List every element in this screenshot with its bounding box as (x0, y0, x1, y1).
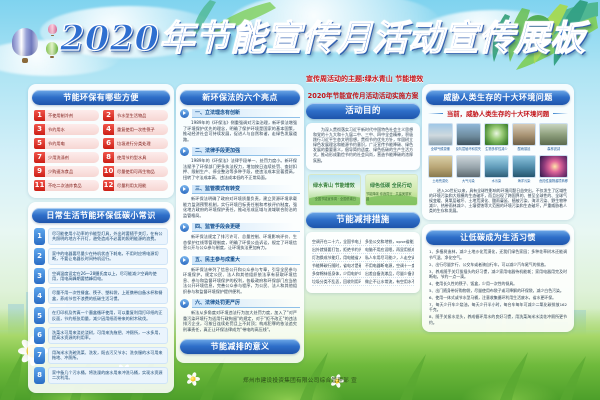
heading-convenience: 节能环保有哪些方便 (32, 90, 170, 105)
heading-low-carbon-habits: 让低碳成为生活习惯 (426, 230, 570, 245)
chip-label: 尽量利用太阳能 (114, 180, 168, 191)
law-subsection-head: 二、法律手段更加强 (180, 147, 300, 156)
law-subsection-title: 四、监管手段会更硬 (192, 223, 300, 232)
chip-number: 4 (103, 124, 114, 135)
purpose-paper: 为深入贯彻落实习近平新时代中国特色社会主义思想和党的十九大和十九届二中、三中、四… (306, 123, 420, 170)
panel-low-carbon-habits: 让低碳成为生活习惯 1、多植树造林，减少土地沙化荒漠化，还我们绿色家园；多种花草… (422, 224, 574, 331)
issue-photo (512, 155, 537, 178)
habit-item: 4、使用长久性的筷子、饭盒，少用一次性的餐具。 (426, 281, 570, 288)
convenience-chip: 10尽量使用可再生物品 (103, 166, 168, 177)
issue-photo (539, 155, 568, 178)
measures-slogan-list: 空调开在二十六，全国节电上亿度；多坐公交和地铁，ярче省能源又便捷；出外就餐要… (310, 236, 416, 288)
law-subsection-head: 一、立法理念有创新 (180, 109, 300, 118)
poster-image-row: 绿水青山 节能增效全国节能宣传周 · 全国低碳日绿色低碳 全民行动节能降碳 你我… (308, 174, 418, 206)
chip-number: 2 (103, 110, 114, 121)
activity-theme: 宣传周活动的主题:绿水青山 节能增效 (306, 74, 420, 84)
law-subsection: 六、法律处罚更严厉新法从多角度对环境违法行为加大处罚力度，加入了"对严重污染环境… (180, 299, 300, 334)
heading-ten-issues: 威胁人类生存的十大环境问题 (426, 90, 570, 105)
law-subsection: 一、立法理念有创新1989年的《环保法》侧重强调对污染治理，新环保法增强了环境保… (180, 109, 300, 144)
panel-ten-issues: 威胁人类生存的十大环境问题 当前，威胁人类生存的十大环境问题 全球气候变暖臭氧层… (422, 84, 574, 220)
law-subsection-body: 新环保法单列了信息公开和公众参与专章，引导全民参与环境保护。规定公民、法人和其他… (180, 267, 300, 297)
issue-caption: 水污染 (484, 179, 509, 184)
measure-slogan: 多坐公交和地铁，ярче省能源又便捷； (365, 238, 414, 245)
tip-number: 5 (34, 307, 45, 324)
issue-caption: 海洋污染 (512, 179, 537, 184)
habits-list: 1、多植树造林，减少土地沙化荒漠化，还我们绿色家园；多种花草树木还能调节气温、净… (426, 249, 570, 326)
habit-item: 2、出行尽量步行、公交车或者骑自行车，可以减少汽车尾气的排放。 (426, 262, 570, 269)
chip-label: 少用洗涤剂 (45, 152, 99, 163)
ribbon-rule-left (428, 113, 443, 114)
poster-subcaption: 节能降碳 你我同行 · 共建美丽家园 (366, 191, 413, 201)
issue-caption: 全球气候变暖 (428, 147, 453, 152)
law-subsection-head: 三、监管模式有转变 (180, 185, 300, 194)
habit-item: 7、每天少开车少烧油，每天少开半小时，每台车每年可减少二氧化碳排放162千克。 (426, 302, 570, 314)
convenience-chip-grid: 1不使用制冷剂2节水型生活物品3节约用水4重复使用一次性筷子5节约用电6垃圾进行… (32, 109, 170, 193)
daily-tip-item: 2家中的电器要尽量少在待机状态下耗电，不用时应将电源切断，不要让电器长时间待机运… (34, 248, 168, 265)
title-banner: 2020年节能宣传月活动宣传展板 (0, 8, 600, 70)
chip-label: 不使用制冷剂 (45, 110, 99, 121)
chip-number: 10 (103, 166, 114, 177)
arrow-icon (180, 109, 189, 118)
law-subsection: 四、监管手段会更硬新环保法规定了排污许可、总量控制、环境影响评价、生态保护红线等… (180, 223, 300, 253)
daily-tip-item: 5在打印机及传真一个墨盒循环使用，可以重复利用打印纸的正反面，节约纸张用量，减少… (34, 307, 168, 324)
chip-number: 1 (34, 110, 45, 121)
measure-slogan: 节能降碳行随时，省电才是硬道理； (312, 262, 361, 269)
issue-photo (484, 155, 509, 178)
chip-label: 垃圾进行分类处理 (114, 138, 168, 149)
measure-row: 出外就餐要打包，拒绝节约光盘行；电脑不用应设眠，再显用纸成本低； (312, 246, 414, 254)
measure-slogan: 出差自备洗漱品，尽量少备洗漱用品； (365, 270, 414, 277)
panel-convenience: 节能环保有哪些方便 1不使用制冷剂2节水型生活物品3节约用水4重复使用一次性筷子… (28, 84, 174, 198)
chip-number: 7 (34, 152, 45, 163)
tip-text: 洗菜水可用来浇花浇树，可用来洗拖把、冲厕所，一水多用，提高水资源的利用率。 (48, 327, 168, 344)
law-subsection-title: 五、民主参与成重大 (192, 256, 300, 265)
environment-issue: 土地荒漠化 (428, 155, 453, 184)
measure-row: 灯泡换成节能灯，用电能省入成多；私人车用尽可能少，人走空调空调关； (312, 254, 414, 262)
tip-text: 用淘米水洗碗洗菜、洗发，既去污又节水；洗衣服的水可用来拖地、冲厕所。 (48, 347, 168, 364)
habit-item: 3、养成随手关灯拔插头的好习惯，减少家用电器待机能耗；家用电器用完及时断电，节约… (426, 269, 570, 281)
habit-item: 6、使用一体式或节水型马桶，注意收集循环利用生活废水，省水更环保。 (426, 295, 570, 302)
daily-tips-list: 1尽可能使用小功率的节能型灯具，外出时要随手关灯，在有公共照明的地方不开灯，避免… (32, 227, 170, 388)
heading-new-law: 新环保法的六个亮点 (180, 90, 300, 105)
habit-item: 1、多植树造林，减少土地沙化荒漠化，还我们绿色家园；多种花草树木还能调节气温、净… (426, 249, 570, 261)
issue-caption: 危险性废物越境转移 (539, 179, 568, 184)
law-subsection-body: 1989年的《环保法》法律手段单一、处罚力度小。新环保法赋予了环保部门更多执法权… (180, 158, 300, 182)
chip-number: 12 (103, 180, 114, 191)
measure-slogan: 垃圾分类不乱丢，回收利用环保有； (312, 278, 361, 285)
environment-issue: 森林锐减 (539, 123, 568, 152)
convenience-chip: 2节水型生活物品 (103, 110, 168, 121)
heading-significance: 节能减排的意义 (180, 339, 300, 354)
environment-issue: 酸雨蔓延 (512, 123, 537, 152)
issue-photo (456, 123, 482, 146)
measure-row: 节能降碳行随时，省电才是硬道理；不用电器断电源，空调十一度更省； (312, 262, 414, 270)
issue-caption: 森林锐减 (539, 147, 568, 152)
tip-text: 在打印机及传真一个墨盒循环使用，可以重复利用打印纸的正反面，节约纸张用量，减少因… (48, 307, 168, 324)
measure-slogan: 多穿棉袜低身体，少用电炉少用电； (312, 270, 361, 277)
convenience-chip: 7少用洗涤剂 (34, 152, 99, 163)
habit-item: 8、随手关紧水龙头，养成循环用水的良好习惯，用洗菜淘米水浇花冲厕所更节约。 (426, 314, 570, 326)
law-subsection-body: 新法从多角度对环境违法行为加大处罚力度，加入了"对严重污染环境行为适用行政拘留"… (180, 310, 300, 334)
daily-tip-item: 3空调温度设定在26～28摄氏度以上，尽可能减少空调的使用，用电高峰期要错峰用电… (34, 268, 168, 285)
law-subsection-head: 六、法律处罚更严厉 (180, 299, 300, 308)
chip-number: 9 (34, 166, 45, 177)
daily-tip-item: 6洗菜水可用来浇花浇树，可用来洗拖把、冲厕所，一水多用，提高水资源的利用率。 (34, 327, 168, 344)
environment-issue: 大气污染 (456, 155, 482, 184)
daily-tip-item: 4尽量不用一次性餐盒、筷子、塑料袋，上班携带自备水杯和餐盒，养成节俭不浪费的低碳… (34, 287, 168, 304)
issue-caption: 生物多样性减少 (484, 147, 509, 152)
column-right: 威胁人类生存的十大环境问题 当前，威胁人类生存的十大环境问题 全球气候变暖臭氧层… (422, 84, 574, 336)
convenience-chip: 11不吃二次油炸食品 (34, 180, 99, 191)
ribbon-rule-right (553, 113, 568, 114)
tip-text: 家中的电器要尽量少在待机状态下耗电，不用时应将电源切断，不要让电器长时间待机运行… (48, 248, 168, 265)
issue-photo (456, 155, 482, 178)
scheme-title: 2020年节能宣传月活动活动实施方案 (306, 90, 420, 100)
measure-slogan: 不用电器断电源，空调十一度更省； (365, 262, 414, 269)
page-title: 2020年节能宣传月活动宣传展板 (60, 14, 560, 64)
chip-number: 5 (34, 138, 45, 149)
measure-slogan: 出外就餐要打包，拒绝节约光盘行； (312, 246, 361, 253)
poster-caption: 绿水青山 节能增效 (313, 182, 355, 189)
convenience-chip: 8使用节约型水具 (103, 152, 168, 163)
environment-issue: 生物多样性减少 (484, 123, 509, 152)
issue-photo (428, 155, 453, 178)
footer-credit: 郑州市建设投资集团有限公司综合管理部 宣 (0, 376, 600, 384)
environment-issue: 臭氧层破坏和损失 (456, 123, 482, 152)
law-subsection: 三、监管模式有转变新环保法明确了政府对环境质量负责，建立资源环境承载能力监测预警… (180, 185, 300, 220)
heading-measures: 节能减排措施 (306, 212, 420, 228)
ten-issues-grid: 全球气候变暖臭氧层破坏和损失生物多样性减少酸雨蔓延森林锐减土地荒漠化大气污染水污… (426, 122, 570, 185)
purpose-body: 为深入贯彻落实习近平新时代中国特色社会主义思想和党的十九大和十九届二中、三中、四… (310, 127, 416, 165)
daily-tip-item: 7用淘米水洗碗洗菜、洗发，既去污又节水；洗衣服的水可用来拖地、冲厕所。 (34, 347, 168, 364)
ten-issues-body: 进入20世纪以来，具有全球性影响的环境问题日益突出，不仅发生了区域性的环境污染和… (426, 188, 570, 215)
chip-number: 8 (103, 152, 114, 163)
convenience-chip: 3节约用水 (34, 124, 99, 135)
panel-daily-tips: 日常生活节能环保低碳小常识 1尽可能使用小功率的节能型灯具，外出时要随手关灯，在… (28, 202, 174, 393)
measure-slogan: 电脑不用应设眠，再显用纸成本低； (365, 246, 414, 253)
measure-row: 多穿棉袜低身体，少用电炉少用电；出差自备洗漱品，尽量少备洗漱用品； (312, 270, 414, 278)
law-subsection: 二、法律手段更加强1989年的《环保法》法律手段单一、处罚力度小。新环保法赋予了… (180, 147, 300, 182)
chip-label: 使用节约型水具 (114, 152, 168, 163)
chip-number: 11 (34, 180, 45, 191)
issue-photo (484, 123, 509, 146)
heading-daily-tips: 日常生活节能环保低碳小常识 (32, 208, 170, 223)
chip-label: 节水型生活物品 (114, 110, 168, 121)
panel-new-law: 新环保法的六个亮点 一、立法理念有创新1989年的《环保法》侧重强调对污染治理，… (176, 84, 304, 363)
poster-canvas: 2020年节能宣传月活动宣传展板 节能环保有哪些方便 1不使用制冷剂2节水型生活… (0, 0, 600, 400)
column-center: 宣传周活动的主题:绿水青山 节能增效 2020年节能宣传月活动活动实施方案 活动… (306, 74, 420, 293)
arrow-icon (180, 147, 189, 156)
tip-text: 尽可能使用小功率的节能型灯具，外出时要随手关灯，在有公共照明的地方不开灯，避免造… (48, 228, 168, 245)
tip-number: 7 (34, 347, 45, 364)
new-law-subsections: 一、立法理念有创新1989年的《环保法》侧重强调对污染治理，新环保法增强了环境保… (180, 109, 300, 334)
issue-photo (539, 123, 568, 146)
chip-label: 尽量使用可再生物品 (114, 166, 168, 177)
measure-slogan: 灯泡换成节能灯，用电能省入成多； (312, 254, 361, 261)
daily-tip-item: 1尽可能使用小功率的节能型灯具，外出时要随手关灯，在有公共照明的地方不开灯，避免… (34, 228, 168, 245)
law-subsection-title: 一、立法理念有创新 (192, 109, 300, 118)
chip-label: 节约用电 (45, 138, 99, 149)
chip-label: 节约用水 (45, 124, 99, 135)
chip-label: 少购速冻食品 (45, 166, 99, 177)
law-subsection-body: 1989年的《环保法》侧重强调对污染治理，新环保法增强了环境保护优先的理念，明确… (180, 120, 300, 144)
tip-number: 1 (34, 228, 45, 245)
convenience-chip: 9少购速冻食品 (34, 166, 99, 177)
measure-row: 垃圾分类不乱丢，回收利用环保有；做企不让水常流，有空用水不浪费； (312, 278, 414, 286)
law-subsection-head: 四、监管手段会更硬 (180, 223, 300, 232)
convenience-chip: 4重复使用一次性筷子 (103, 124, 168, 135)
tip-text: 空调温度设定在26～28摄氏度以上，尽可能减少空调的使用，用电高峰期要错峰用电。 (48, 268, 168, 285)
issue-photo (512, 123, 537, 146)
measure-slogan: 做企不让水常流，有空用水不浪费； (365, 278, 414, 285)
issue-caption: 土地荒漠化 (428, 179, 453, 184)
law-subsection-head: 五、民主参与成重大 (180, 256, 300, 265)
arrow-icon (180, 185, 189, 194)
convenience-chip: 1不使用制冷剂 (34, 110, 99, 121)
ten-issues-ribbon: 当前，威胁人类生存的十大环境问题 (428, 109, 568, 118)
law-subsection-title: 二、法律手段更加强 (192, 147, 300, 156)
measure-slogan: 空调开在二十六，全国节电上亿度； (312, 238, 361, 245)
convenience-chip: 5节约用电 (34, 138, 99, 149)
issue-photo (428, 123, 453, 146)
ribbon-label: 当前，威胁人类生存的十大环境问题 (447, 109, 549, 118)
environment-issue: 全球气候变暖 (428, 123, 453, 152)
chip-label: 重复使用一次性筷子 (114, 124, 168, 135)
arrow-icon (180, 223, 189, 232)
eco-poster-image: 绿色低碳 全民行动节能降碳 你我同行 · 共建美丽家园 (365, 174, 418, 206)
convenience-chip: 6垃圾进行分类处理 (103, 138, 168, 149)
poster-subcaption: 全国节能宣传周 · 全国低碳日 (315, 196, 356, 201)
measure-row: 空调开在二十六，全国节电上亿度；多坐公交和地铁，ярче省能源又便捷； (312, 238, 414, 246)
law-subsection-title: 三、监管模式有转变 (192, 185, 300, 194)
law-subsection-title: 六、法律处罚更严厉 (192, 299, 300, 308)
environment-issue: 水污染 (484, 155, 509, 184)
law-subsection-body: 新环保法明确了政府对环境质量负责，建立资源环境承载能力监测预警机制，实行环境目标… (180, 196, 300, 220)
column-mid: 新环保法的六个亮点 一、立法理念有创新1989年的《环保法》侧重强调对污染治理，… (176, 84, 304, 367)
convenience-chip: 12尽量利用太阳能 (103, 180, 168, 191)
law-subsection-body: 新环保法规定了排污许可、总量控制、环境影响评价、生态保护红线等管理制度，明确了环… (180, 234, 300, 253)
column-left: 节能环保有哪些方便 1不使用制冷剂2节水型生活物品3节约用水4重复使用一次性筷子… (28, 84, 174, 397)
chip-number: 3 (34, 124, 45, 135)
tip-text: 尽量不用一次性餐盒、筷子、塑料袋，上班携带自备水杯和餐盒，养成节俭不浪费的低碳生… (48, 287, 168, 304)
habit-item: 5、出门随身带好购物袋，尽量使用布袋子或可降解的环保袋，减少白色污染。 (426, 288, 570, 295)
measure-slogan: 私人车用尽可能少，人走空调空调关； (365, 254, 414, 261)
tip-number: 6 (34, 327, 45, 344)
tip-number: 2 (34, 248, 45, 265)
tip-number: 4 (34, 287, 45, 304)
chip-number: 6 (103, 138, 114, 149)
issue-caption: 大气污染 (456, 179, 482, 184)
law-subsection: 五、民主参与成重大新环保法单列了信息公开和公众参与专章，引导全民参与环境保护。规… (180, 256, 300, 297)
heading-purpose: 活动目的 (306, 103, 420, 119)
arrow-icon (180, 299, 189, 308)
tip-number: 3 (34, 268, 45, 285)
measures-paper: 空调开在二十六，全国节电上亿度；多坐公交和地铁，ярче省能源又便捷；出外就餐要… (306, 232, 420, 293)
chip-label: 不吃二次油炸食品 (45, 180, 99, 191)
eco-poster-image: 绿水青山 节能增效全国节能宣传周 · 全国低碳日 (308, 174, 361, 206)
issue-caption: 臭氧层破坏和损失 (456, 147, 482, 152)
environment-issue: 危险性废物越境转移 (539, 155, 568, 184)
poster-caption: 绿色低碳 全民行动 (370, 182, 412, 189)
issue-caption: 酸雨蔓延 (512, 147, 537, 152)
environment-issue: 海洋污染 (512, 155, 537, 184)
arrow-icon (180, 256, 189, 265)
